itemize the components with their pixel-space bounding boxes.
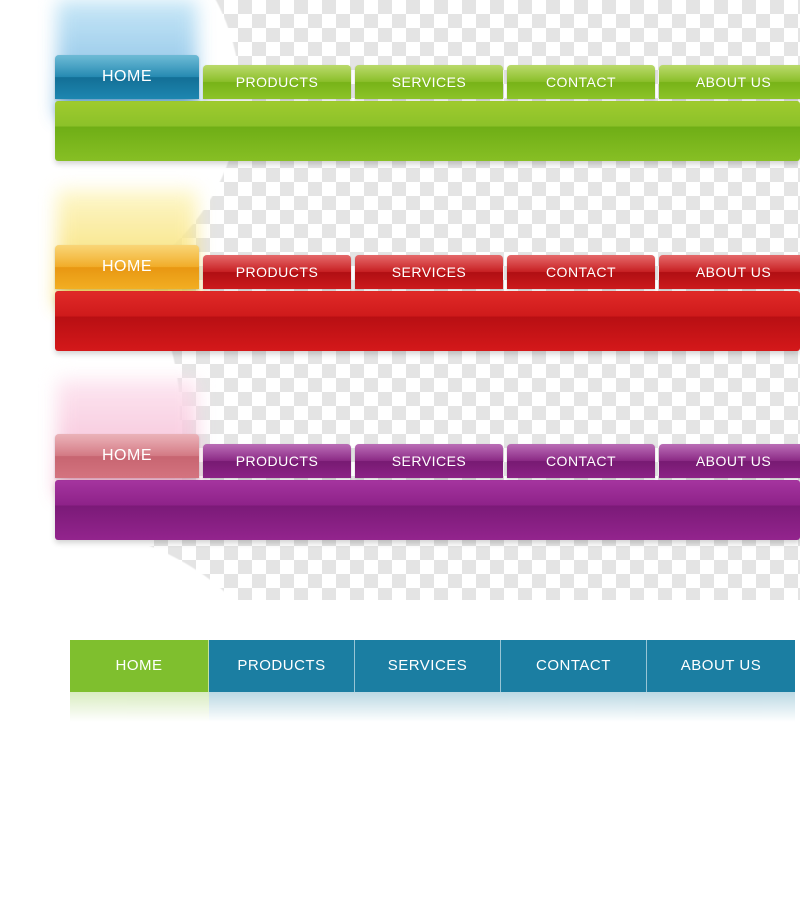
tab-about-us[interactable]: ABOUT US [659,255,800,289]
green-menu-tabs: HOME PRODUCTS SERVICES CONTACT ABOUT US [55,65,800,99]
tab-label: HOME [102,68,152,85]
tab-about-us[interactable]: ABOUT US [659,444,800,478]
red-menu-bar [55,291,800,351]
tab-label: CONTACT [536,657,611,674]
tab-label: PRODUCTS [236,74,319,90]
tab-label: HOME [116,657,163,674]
tab-label: SERVICES [392,264,467,280]
tab-label: CONTACT [546,74,616,90]
tab-products[interactable]: PRODUCTS [203,65,351,99]
menu-collection: HOME PRODUCTS SERVICES CONTACT ABOUT US [0,0,800,763]
teal-menu-tabs: HOME PRODUCTS SERVICES CONTACT ABOUT US [70,640,795,692]
green-menu: HOME PRODUCTS SERVICES CONTACT ABOUT US [55,55,800,160]
tab-label: CONTACT [546,264,616,280]
tab-contact[interactable]: CONTACT [507,255,655,289]
tab-label: PRODUCTS [236,453,319,469]
purple-menu-bar [55,480,800,540]
purple-menu: HOME PRODUCTS SERVICES CONTACT ABOUT US [55,434,800,539]
tab-products[interactable]: PRODUCTS [209,640,355,692]
tab-about-us[interactable]: ABOUT US [647,640,795,692]
tab-label: ABOUT US [696,264,771,280]
red-menu-tabs: HOME PRODUCTS SERVICES CONTACT ABOUT US [55,255,800,289]
tab-label: ABOUT US [681,657,761,674]
tab-label: CONTACT [546,453,616,469]
tab-contact[interactable]: CONTACT [507,444,655,478]
tab-label: SERVICES [392,74,467,90]
teal-menu: HOME PRODUCTS SERVICES CONTACT ABOUT US [70,640,795,692]
tab-home[interactable]: HOME [55,434,199,478]
tab-services[interactable]: SERVICES [355,640,501,692]
tab-label: ABOUT US [696,74,771,90]
tab-label: HOME [102,258,152,275]
teal-menu-reflection [70,692,795,722]
green-menu-bar [55,101,800,161]
tab-home[interactable]: HOME [55,55,199,99]
tab-products[interactable]: PRODUCTS [203,255,351,289]
tab-home[interactable]: HOME [70,640,209,692]
tab-label: PRODUCTS [237,657,325,674]
tab-services[interactable]: SERVICES [355,65,503,99]
purple-menu-tabs: HOME PRODUCTS SERVICES CONTACT ABOUT US [55,444,800,478]
tab-label: PRODUCTS [236,264,319,280]
tab-label: ABOUT US [696,453,771,469]
tab-label: SERVICES [392,453,467,469]
red-menu: HOME PRODUCTS SERVICES CONTACT ABOUT US [55,245,800,350]
tab-products[interactable]: PRODUCTS [203,444,351,478]
tab-label: SERVICES [388,657,468,674]
tab-contact[interactable]: CONTACT [501,640,647,692]
tab-label: HOME [102,447,152,464]
tab-services[interactable]: SERVICES [355,444,503,478]
tab-about-us[interactable]: ABOUT US [659,65,800,99]
tab-home[interactable]: HOME [55,245,199,289]
tab-contact[interactable]: CONTACT [507,65,655,99]
tab-services[interactable]: SERVICES [355,255,503,289]
